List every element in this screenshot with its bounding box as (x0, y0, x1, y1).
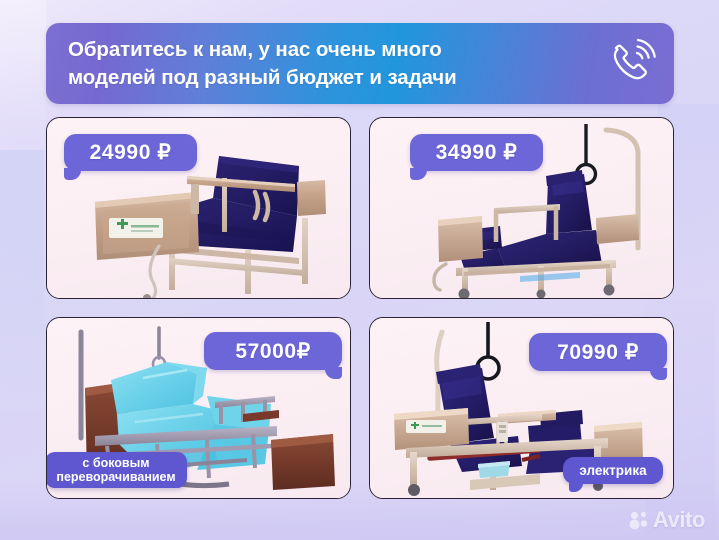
product-card[interactable]: 24990 ₽ (46, 117, 351, 299)
feature-caption-badge: электрика (563, 457, 663, 484)
feature-caption-badge: с боковым переворачиванием (46, 452, 187, 488)
price-badge: 24990 ₽ (64, 134, 197, 171)
header-banner: Обратитесь к нам, у нас очень много моде… (46, 23, 674, 104)
product-card[interactable]: 70990 ₽ электрика (369, 317, 674, 499)
price-badge: 34990 ₽ (410, 134, 543, 171)
product-grid: 24990 ₽ (46, 117, 674, 517)
background-streak (0, 150, 44, 410)
price-badge: 57000₽ (204, 332, 342, 370)
price-label: 24990 ₽ (90, 140, 172, 165)
avito-dots-logo (629, 510, 649, 530)
product-card[interactable]: 57000₽ с боковым переворачиванием (46, 317, 351, 499)
avito-watermark-label: Avito (653, 507, 705, 533)
banner-headline: Обратитесь к нам, у нас очень много моде… (68, 36, 598, 90)
phone-call-icon (602, 35, 660, 93)
price-badge: 70990 ₽ (529, 333, 667, 371)
price-label: 70990 ₽ (557, 340, 639, 365)
price-label: 34990 ₽ (436, 140, 518, 165)
product-card[interactable]: 34990 ₽ (369, 117, 674, 299)
price-label: 57000₽ (235, 339, 310, 364)
background-streak (0, 0, 46, 160)
avito-watermark: Avito (629, 507, 705, 533)
